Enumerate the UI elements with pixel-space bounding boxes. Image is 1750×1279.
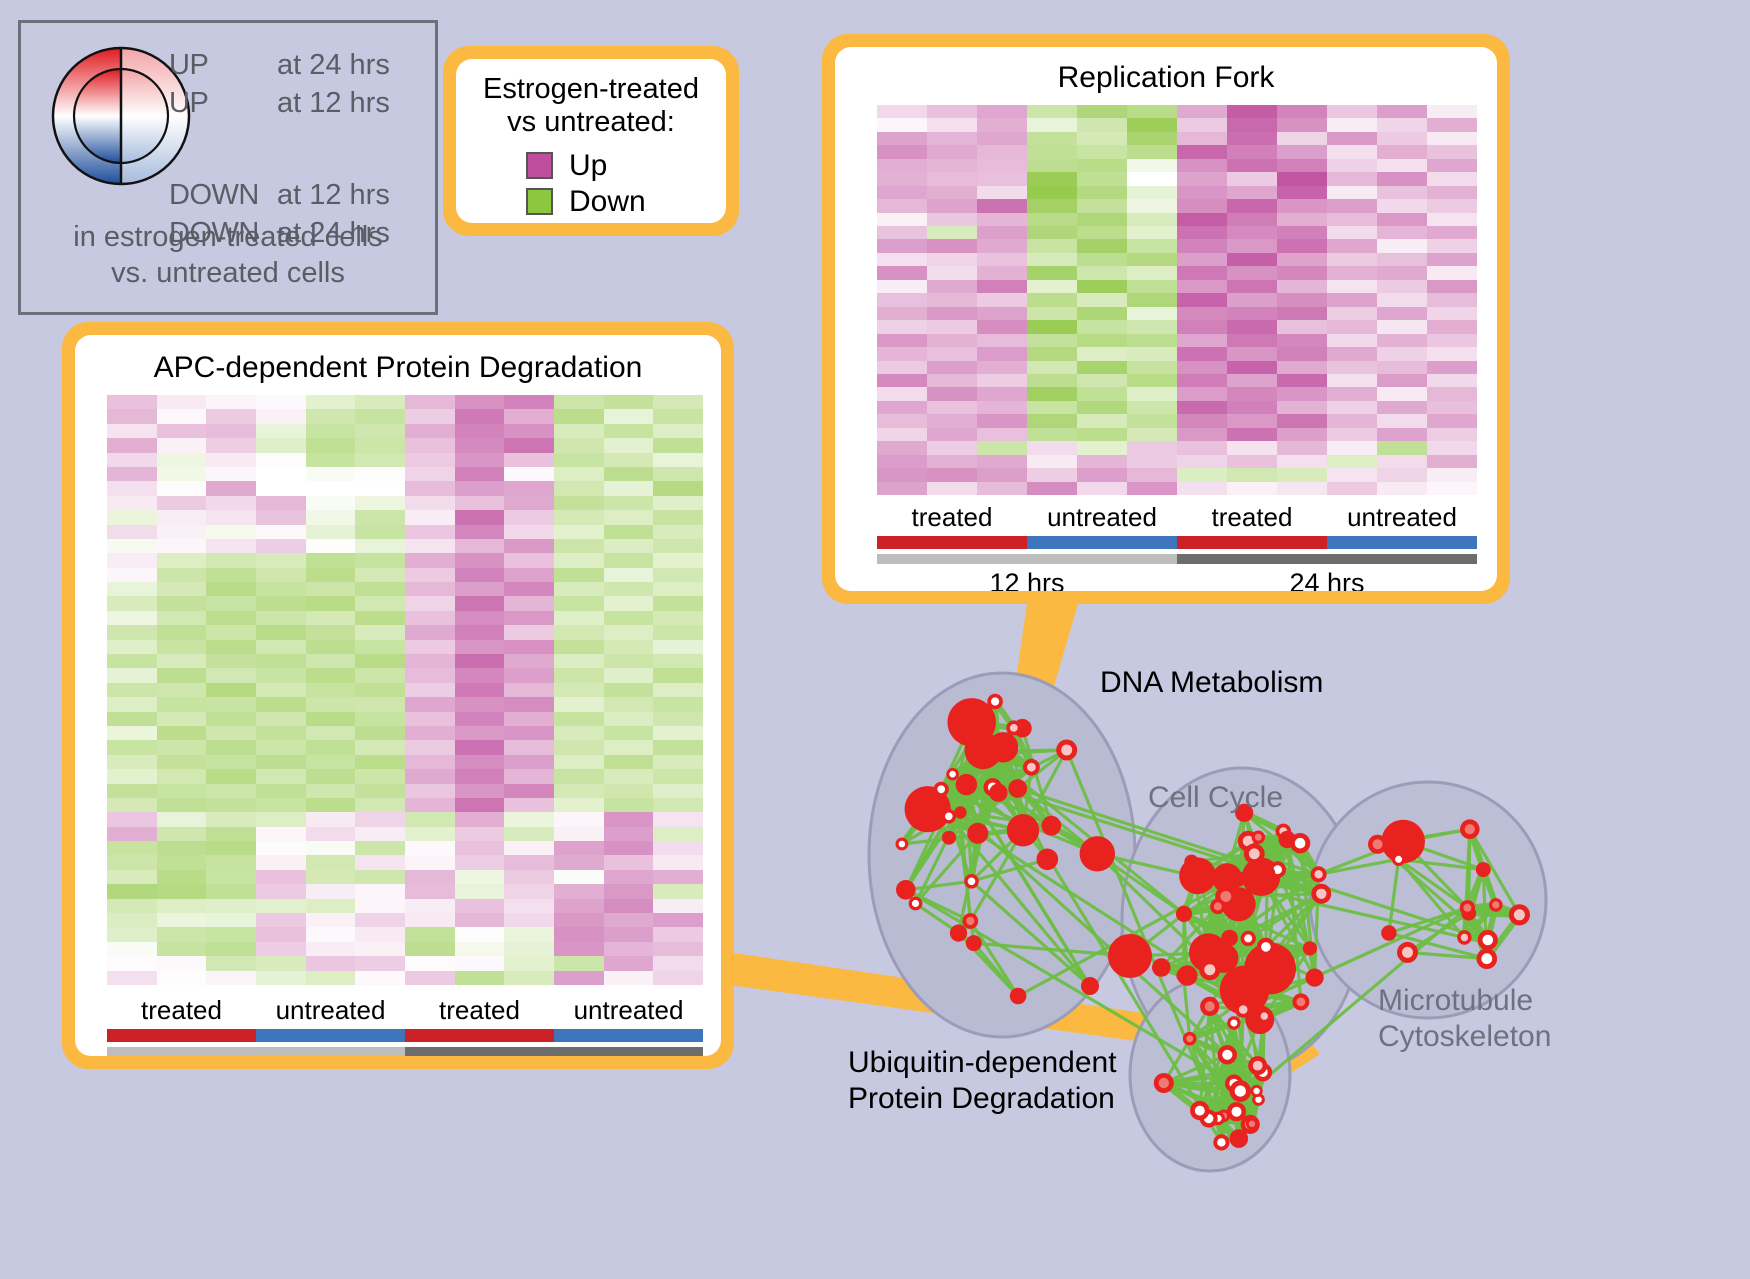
heatmap-cell [1077, 307, 1127, 320]
heatmap-cell [306, 927, 356, 941]
heatmap-cell [306, 971, 356, 985]
heatmap-cell [405, 510, 455, 524]
heatmap-cell [355, 927, 405, 941]
heatmap-cell [157, 855, 207, 869]
heatmap-cell [554, 424, 604, 438]
group-bar-treated-24 [1177, 536, 1327, 549]
heatmap-cell [653, 841, 703, 855]
key-footer-line1: in estrogen-treated cells [21, 219, 435, 255]
network-node-core [968, 878, 976, 886]
group-bar-treated-24 [405, 1029, 554, 1042]
heatmap-cell [256, 467, 306, 481]
heatmap-cell [1177, 361, 1227, 374]
heatmap-cell [977, 145, 1027, 158]
heatmap-cell [107, 740, 157, 754]
network-node-core [937, 785, 945, 793]
heatmap-cell [1177, 374, 1227, 387]
heatmap-cell [877, 280, 927, 293]
heatmap-cell [1377, 105, 1427, 118]
heatmap-cell [1377, 172, 1427, 185]
heatmap-cell [504, 438, 554, 452]
heatmap-cell [1077, 468, 1127, 481]
heatmap-cell [1227, 374, 1277, 387]
heatmap-cell [1427, 199, 1477, 212]
heatmap-cell [1227, 414, 1277, 427]
heatmap-cell [1277, 401, 1327, 414]
heatmap-cell [504, 841, 554, 855]
heatmap-cell [405, 971, 455, 985]
heatmap-cell [405, 942, 455, 956]
heatmap-cell [927, 118, 977, 131]
heatmap-cell [1127, 239, 1177, 252]
heatmap-cell [1077, 213, 1127, 226]
heatmap-cell [455, 525, 505, 539]
heatmap-cell [604, 712, 654, 726]
heatmap-cell [157, 841, 207, 855]
heatmap-cell [455, 510, 505, 524]
heatmap-cell [455, 956, 505, 970]
heatmap-cell [455, 971, 505, 985]
heatmap-cell [455, 812, 505, 826]
heatmap-cell [1127, 307, 1177, 320]
heatmap-cell [604, 726, 654, 740]
heatmap-cell [1327, 199, 1377, 212]
heatmap-cell [1177, 118, 1227, 131]
heatmap-cell [653, 827, 703, 841]
heatmap-cell [206, 582, 256, 596]
heatmap-cell [1427, 374, 1477, 387]
heatmap-cell [157, 812, 207, 826]
legend-swatch-up [526, 152, 553, 179]
heatmap-cell [504, 395, 554, 409]
cluster-label-microtubule-cytoskeleton: Microtubule Cytoskeleton [1378, 983, 1551, 1055]
heatmap-cell [107, 395, 157, 409]
heatmap-cell [1077, 361, 1127, 374]
network-node-core [1514, 909, 1525, 920]
heatmap-cell [653, 913, 703, 927]
heatmap-cell [306, 510, 356, 524]
network-node [1007, 814, 1039, 846]
heatmap-cell [107, 438, 157, 452]
heatmap-cell [355, 409, 405, 423]
heatmap-cell [927, 172, 977, 185]
heatmap-cell [306, 942, 356, 956]
heatmap-cell [1227, 347, 1277, 360]
heatmap-cell [1027, 226, 1077, 239]
heatmap-cell [256, 553, 306, 567]
heatmap-cell [877, 482, 927, 495]
heatmap-cell [405, 827, 455, 841]
heatmap-cell [256, 942, 306, 956]
heatmap-cell [355, 496, 405, 510]
heatmap-cell [157, 539, 207, 553]
heatmap-cell [504, 726, 554, 740]
heatmap-cell [554, 467, 604, 481]
heatmap-cell [554, 539, 604, 553]
heatmap-cell [157, 884, 207, 898]
heatmap-cell [455, 798, 505, 812]
heatmap-cell [1277, 199, 1327, 212]
heatmap-cell [927, 334, 977, 347]
heatmap-cell [405, 668, 455, 682]
network-node [1306, 969, 1324, 987]
heatmap-cell [927, 401, 977, 414]
heatmap-cell [554, 971, 604, 985]
heatmap-cell [206, 438, 256, 452]
heatmap-cell [1227, 455, 1277, 468]
heatmap-cell [256, 453, 306, 467]
heatmap-cell [256, 971, 306, 985]
heatmap-cell [1127, 213, 1177, 226]
key-word: UP [169, 49, 277, 82]
heatmap-cell [1327, 455, 1377, 468]
network-node [1245, 984, 1261, 1000]
heatmap-cell [455, 870, 505, 884]
heatmap-cell [157, 755, 207, 769]
heatmap-cell [355, 942, 405, 956]
heatmap-cell [1027, 253, 1077, 266]
heatmap-cell [405, 683, 455, 697]
heatmap-cell [1327, 307, 1377, 320]
heatmap-cell [1077, 334, 1127, 347]
heatmap-cell [653, 611, 703, 625]
heatmap-cell [355, 596, 405, 610]
heatmap-cell [927, 374, 977, 387]
group-label: untreated [256, 995, 405, 1026]
heatmap-cell [877, 293, 927, 306]
heatmap-cell [455, 884, 505, 898]
heatmap-cell [405, 798, 455, 812]
heatmap-cell [355, 812, 405, 826]
heatmap-cell [504, 913, 554, 927]
heatmap-cell [306, 467, 356, 481]
heatmap-cell [355, 841, 405, 855]
heatmap-cell [504, 870, 554, 884]
group-label: untreated [554, 995, 703, 1026]
heatmap-cell [653, 525, 703, 539]
heatmap-cell [653, 712, 703, 726]
replication-fork-group-labels: treated untreated treated untreated [877, 502, 1477, 533]
heatmap-cell [504, 409, 554, 423]
heatmap-cell [604, 956, 654, 970]
heatmap-cell [1027, 482, 1077, 495]
heatmap-cell [157, 654, 207, 668]
heatmap-cell [256, 812, 306, 826]
heatmap-cell [504, 625, 554, 639]
heatmap-cell [1027, 320, 1077, 333]
heatmap-cell [157, 956, 207, 970]
heatmap-cell [504, 640, 554, 654]
heatmap-cell [107, 424, 157, 438]
heatmap-cell [1277, 428, 1327, 441]
heatmap-cell [1227, 307, 1277, 320]
heatmap-cell [256, 539, 306, 553]
heatmap-cell [455, 697, 505, 711]
heatmap-cell [1427, 118, 1477, 131]
network-node-core [1214, 902, 1222, 910]
heatmap-cell [1227, 401, 1277, 414]
heatmap-cell [504, 496, 554, 510]
heatmap-cell [554, 956, 604, 970]
heatmap-cell [157, 740, 207, 754]
heatmap-cell [1327, 293, 1377, 306]
heatmap-cell [504, 855, 554, 869]
heatmap-cell [107, 784, 157, 798]
heatmap-cell [1177, 428, 1227, 441]
heatmap-cell [1377, 253, 1427, 266]
heatmap-cell [1177, 226, 1227, 239]
heatmap-cell [355, 827, 405, 841]
heatmap-cell [604, 510, 654, 524]
heatmap-cell [306, 395, 356, 409]
heatmap-cell [1277, 455, 1327, 468]
heatmap-cell [877, 213, 927, 226]
heatmap-cell [1227, 226, 1277, 239]
heatmap-cell [1327, 401, 1377, 414]
heatmap-cell [604, 927, 654, 941]
heatmap-cell [877, 307, 927, 320]
heatmap-cell [1427, 455, 1477, 468]
heatmap-cell [653, 855, 703, 869]
heatmap-cell [1177, 468, 1227, 481]
heatmap-cell [977, 401, 1027, 414]
heatmap-cell [1377, 239, 1427, 252]
network-node-core [1244, 934, 1252, 942]
heatmap-cell [653, 568, 703, 582]
time-bar-12hrs [107, 1047, 405, 1056]
heatmap-cell [306, 496, 356, 510]
heatmap-cell [157, 942, 207, 956]
heatmap-cell [604, 971, 654, 985]
key-row-up-24: UP at 24 hrs [169, 49, 429, 87]
heatmap-cell [604, 942, 654, 956]
heatmap-cell [977, 455, 1027, 468]
heatmap-cell [306, 582, 356, 596]
heatmap-cell [1077, 428, 1127, 441]
heatmap-cell [1377, 428, 1427, 441]
heatmap-cell [206, 481, 256, 495]
heatmap-cell [355, 769, 405, 783]
heatmap-cell [107, 884, 157, 898]
heatmap-cell [554, 438, 604, 452]
heatmap-cell [1327, 441, 1377, 454]
heatmap-cell [355, 726, 405, 740]
heatmap-cell [256, 697, 306, 711]
heatmap-cell [1427, 186, 1477, 199]
heatmap-cell [107, 453, 157, 467]
heatmap-cell [604, 553, 654, 567]
heatmap-cell [405, 424, 455, 438]
heatmap-cell [604, 525, 654, 539]
heatmap-cell [256, 726, 306, 740]
heatmap-cell [1177, 455, 1227, 468]
network-node-core [1295, 838, 1306, 849]
figure-canvas: UP at 24 hrs UP at 12 hrs DOWN at 12 hrs… [0, 0, 1750, 1279]
heatmap-cell [355, 481, 405, 495]
heatmap-cell [1427, 320, 1477, 333]
heatmap-cell [1327, 468, 1377, 481]
heatmap-cell [604, 453, 654, 467]
heatmap-cell [927, 226, 977, 239]
heatmap-cell [653, 942, 703, 956]
heatmap-cell [157, 510, 207, 524]
heatmap-cell [653, 481, 703, 495]
heatmap-cell [1377, 401, 1427, 414]
heatmap-cell [1327, 347, 1377, 360]
key-footer-line2: vs. untreated cells [21, 255, 435, 291]
heatmap-cell [1277, 468, 1327, 481]
heatmap-cell [405, 568, 455, 582]
network-node [1476, 862, 1491, 877]
legend-title: Estrogen-treated vs untreated: [456, 59, 726, 140]
heatmap-cell [927, 428, 977, 441]
key-time: at 24 hrs [277, 49, 390, 82]
heatmap-cell [554, 496, 604, 510]
heatmap-cell [1327, 320, 1377, 333]
heatmap-cell [653, 726, 703, 740]
network-node [896, 880, 916, 900]
heatmap-cell [1377, 266, 1427, 279]
heatmap-cell [1077, 172, 1127, 185]
heatmap-cell [927, 132, 977, 145]
heatmap-cell [1377, 145, 1427, 158]
heatmap-cell [604, 438, 654, 452]
network-node-core [1253, 1088, 1259, 1094]
heatmap-cell [1427, 266, 1477, 279]
heatmap-cell [504, 712, 554, 726]
heatmap-cell [206, 899, 256, 913]
heatmap-cell [1127, 387, 1177, 400]
heatmap-cell [504, 971, 554, 985]
heatmap-cell [256, 438, 306, 452]
heatmap-cell [455, 625, 505, 639]
heatmap-cell [927, 307, 977, 320]
heatmap-cell [1227, 280, 1277, 293]
heatmap-cell [604, 697, 654, 711]
heatmap-cell [157, 769, 207, 783]
heatmap-cell [1227, 468, 1277, 481]
heatmap-cell [927, 455, 977, 468]
network-node-core [1249, 848, 1260, 859]
heatmap-cell [206, 611, 256, 625]
heatmap-cell [1277, 414, 1327, 427]
heatmap-cell [1177, 199, 1227, 212]
heatmap-cell [877, 334, 927, 347]
heatmap-cell [554, 755, 604, 769]
heatmap-cell [405, 467, 455, 481]
heatmap-cell [256, 927, 306, 941]
heatmap-cell [355, 740, 405, 754]
heatmap-cell [1027, 441, 1077, 454]
heatmap-cell [1277, 145, 1327, 158]
heatmap-cell [355, 424, 405, 438]
heatmap-cell [157, 798, 207, 812]
heatmap-cell [306, 726, 356, 740]
heatmap-cell [653, 812, 703, 826]
heatmap-cell [653, 927, 703, 941]
heatmap-cell [306, 755, 356, 769]
heatmap-cell [355, 855, 405, 869]
heatmap-cell [1277, 159, 1327, 172]
heatmap-cell [107, 798, 157, 812]
heatmap-cell [355, 510, 405, 524]
heatmap-cell [877, 361, 927, 374]
heatmap-cell [1427, 159, 1477, 172]
heatmap-cell [455, 553, 505, 567]
heatmap-cell [306, 640, 356, 654]
heatmap-cell [256, 913, 306, 927]
heatmap-cell [1077, 320, 1127, 333]
heatmap-cell [405, 640, 455, 654]
network-node-core [1235, 1086, 1246, 1097]
heatmap-cell [107, 956, 157, 970]
heatmap-cell [1177, 482, 1227, 495]
group-label: treated [877, 502, 1027, 533]
heatmap-cell [405, 553, 455, 567]
network-node-core [1255, 834, 1262, 841]
heatmap-cell [455, 712, 505, 726]
heatmap-cell [355, 553, 405, 567]
heatmap-cell [554, 582, 604, 596]
heatmap-cell [455, 913, 505, 927]
group-label: untreated [1327, 502, 1477, 533]
heatmap-cell [1377, 334, 1427, 347]
heatmap-cell [256, 798, 306, 812]
time-bar-24hrs [405, 1047, 703, 1056]
heatmap-cell [405, 582, 455, 596]
heatmap-cell [1327, 186, 1377, 199]
heatmap-cell [1077, 266, 1127, 279]
heatmap-cell [107, 481, 157, 495]
heatmap-cell [1127, 468, 1177, 481]
heatmap-cell [977, 374, 1027, 387]
heatmap-cell [206, 870, 256, 884]
heatmap-cell [1427, 132, 1477, 145]
heatmap-cell [306, 596, 356, 610]
network-node-core [1010, 724, 1018, 732]
heatmap-cell [455, 409, 505, 423]
heatmap-cell [206, 654, 256, 668]
heatmap-cell [256, 625, 306, 639]
heatmap-cell [653, 496, 703, 510]
heatmap-cell [604, 870, 654, 884]
heatmap-cell [157, 971, 207, 985]
network-node-core [1261, 942, 1271, 952]
network-node-core [1205, 1001, 1215, 1011]
network-node-core [1232, 1107, 1242, 1117]
heatmap-cell [1327, 414, 1377, 427]
heatmap-cell [405, 812, 455, 826]
heatmap-cell [877, 428, 927, 441]
heatmap-cell [355, 640, 405, 654]
heatmap-cell [1327, 105, 1377, 118]
heatmap-cell [1227, 334, 1277, 347]
legend-item-up: Up [526, 148, 726, 184]
apc-group-bar [107, 1029, 703, 1042]
heatmap-cell [206, 409, 256, 423]
heatmap-cell [157, 395, 207, 409]
heatmap-cell [107, 409, 157, 423]
heatmap-cell [355, 971, 405, 985]
heatmap-cell [504, 784, 554, 798]
heatmap-cell [157, 553, 207, 567]
heatmap-cell [1327, 118, 1377, 131]
heatmap-cell [1427, 172, 1477, 185]
heatmap-cell [504, 553, 554, 567]
network-node [950, 925, 967, 942]
heatmap-cell [1077, 401, 1127, 414]
heatmap-cell [355, 870, 405, 884]
